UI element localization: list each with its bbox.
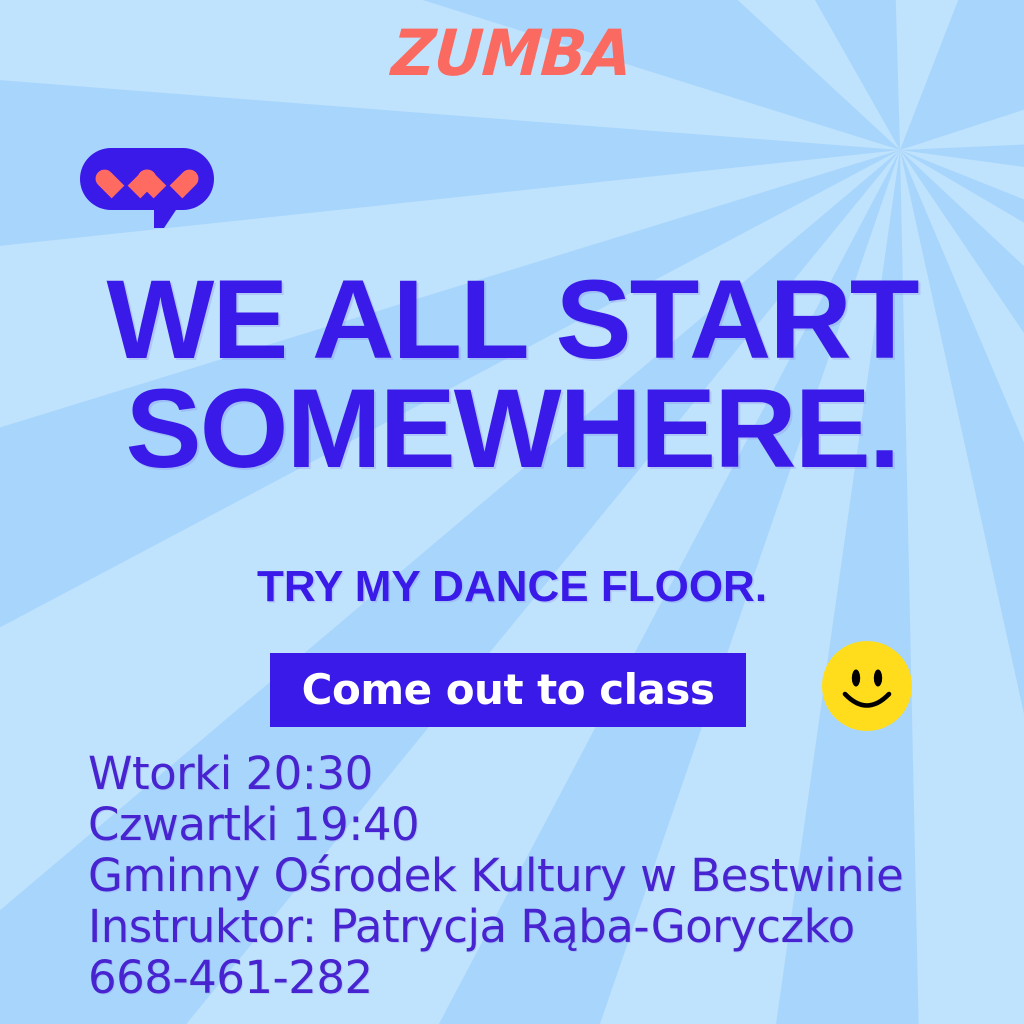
- detail-line-thursday: Czwartki 19:40: [88, 799, 988, 850]
- zumba-wordmark-text: ZUMBA: [390, 22, 634, 86]
- detail-line-instructor: Instruktor: Patrycja Rąba-Goryczko: [88, 901, 988, 952]
- call-to-action-banner[interactable]: Come out to class: [270, 653, 746, 727]
- zumba-logo: ZUMBA®: [0, 24, 1024, 84]
- subheadline: TRY MY DANCE FLOOR.: [0, 562, 1024, 612]
- call-to-action-label: Come out to class: [302, 665, 715, 714]
- smiley-face-icon: [821, 640, 913, 732]
- zumba-class-poster: ZUMBA® WE ALL START SOMEWHERE. TRY MY DA…: [0, 0, 1024, 1024]
- speech-bubble-icon: [80, 148, 214, 210]
- class-details: Wtorki 20:30 Czwartki 19:40 Gminny Ośrod…: [88, 748, 988, 1003]
- detail-line-phone[interactable]: 668-461-282: [88, 952, 988, 1003]
- heart-icon: [151, 164, 185, 194]
- headline-line-1: WE ALL START: [0, 266, 1024, 375]
- detail-line-tuesday: Wtorki 20:30: [88, 748, 988, 799]
- heart-icon-group: [80, 148, 214, 210]
- detail-line-venue: Gminny Ośrodek Kultury w Bestwinie: [88, 850, 988, 901]
- headline-line-2: SOMEWHERE.: [0, 375, 1024, 484]
- headline: WE ALL START SOMEWHERE.: [0, 266, 1024, 483]
